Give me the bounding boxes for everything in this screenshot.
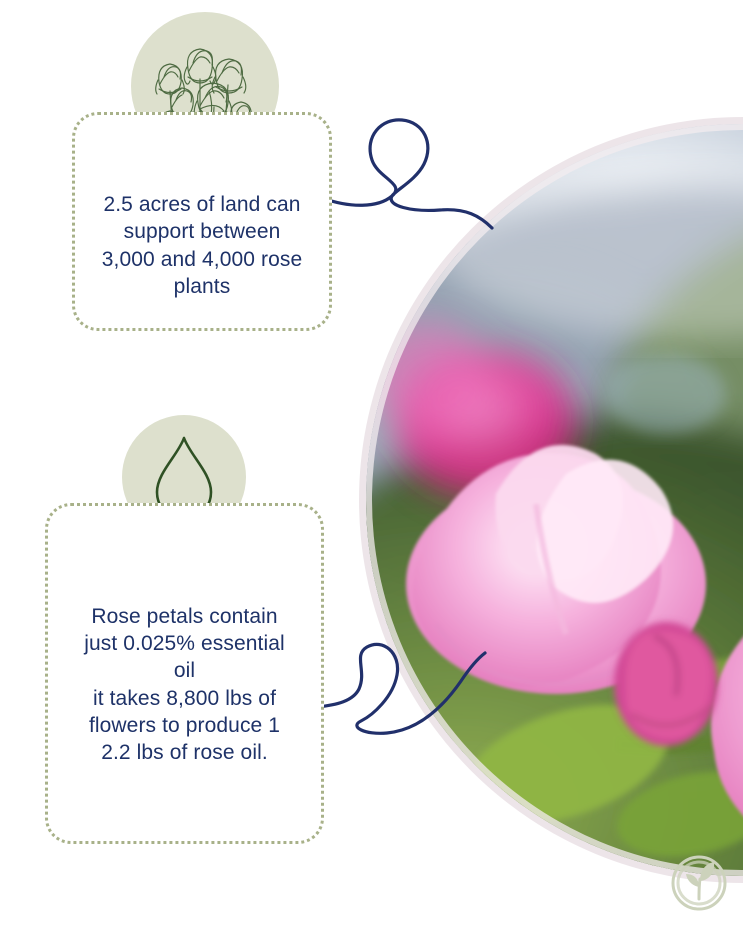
fact-card-essential-oil-yield-text: Rose petals contain just 0.025% essentia… [80,603,289,767]
fact-card-essential-oil-yield: Rose petals contain just 0.025% essentia… [45,503,324,844]
sprout-in-circle-logo [669,853,729,913]
pink-damask-roses-photo [366,124,743,876]
looping-connector-line-top [320,112,510,232]
fact-card-acreage: 2.5 acres of land can support between 3,… [72,112,332,331]
fact-card-acreage-text: 2.5 acres of land can support between 3,… [98,191,307,300]
sprout-logo-mark [669,853,729,913]
infographic-canvas: 2.5 acres of land can support between 3,… [0,0,743,929]
rose-photograph-artwork [366,124,743,876]
